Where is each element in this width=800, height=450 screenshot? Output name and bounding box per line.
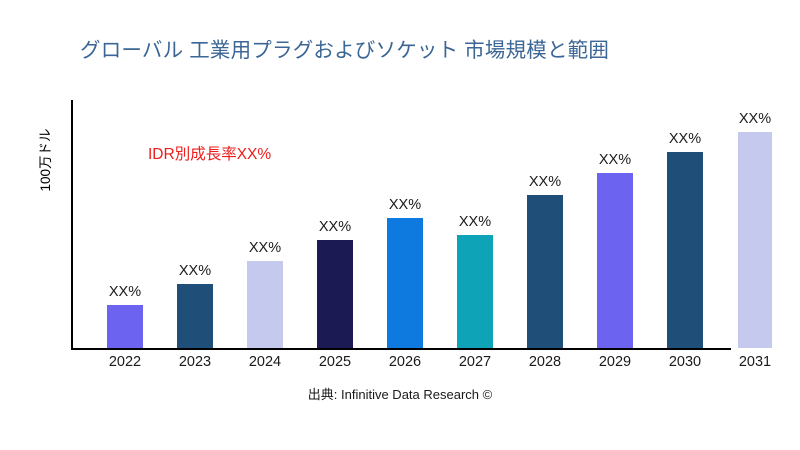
bar-value-label: XX% [739,111,771,127]
bar-value-label: XX% [109,284,141,300]
bar[interactable] [738,132,772,348]
x-axis-tick-label: 2022 [95,354,155,370]
x-axis-tick-label: 2026 [375,354,435,370]
bar-group: XX% [317,240,353,348]
bar-value-label: XX% [179,263,211,279]
bar[interactable] [667,152,703,348]
chart-container: グローバル 工業用プラグおよびソケット 市場規模と範囲 100万ドル IDR別成… [0,0,800,450]
bar-value-label: XX% [389,197,421,213]
source-note: 出典: Infinitive Data Research © [0,384,800,403]
bar-group: XX% [527,195,563,348]
x-axis-tick-label: 2024 [235,354,295,370]
bar[interactable] [457,235,493,348]
x-axis-tick-label: 2030 [655,354,715,370]
bar-group: XX% [667,152,703,348]
bar[interactable] [177,284,213,348]
bar[interactable] [247,261,283,348]
bar-group: XX% [457,235,493,348]
bar-value-label: XX% [529,174,561,190]
bar-group: XX% [597,173,633,348]
x-axis-tick-label: 2027 [445,354,505,370]
bar[interactable] [387,218,423,348]
x-axis-tick-label: 2029 [585,354,645,370]
x-axis-tick-label: 2028 [515,354,575,370]
plot-area: 100万ドル IDR別成長率XX% XX%2022XX%2023XX%2024X… [0,0,800,450]
bar-value-label: XX% [599,152,631,168]
x-axis-tick-label: 2025 [305,354,365,370]
bars-layer: XX%2022XX%2023XX%2024XX%2025XX%2026XX%20… [0,0,800,450]
bar-value-label: XX% [459,214,491,230]
bar-value-label: XX% [249,240,281,256]
bar-group: XX% [177,284,213,348]
bar[interactable] [317,240,353,348]
bar-group: XX% [247,261,283,348]
bar-value-label: XX% [669,131,701,147]
bar[interactable] [597,173,633,348]
x-axis-tick-label: 2031 [726,354,784,370]
bar-group: XX% [107,305,143,348]
bar[interactable] [107,305,143,348]
x-axis-tick-label: 2023 [165,354,225,370]
bar-value-label: XX% [319,219,351,235]
bar[interactable] [527,195,563,348]
bar-group: XX% [738,132,772,348]
bar-group: XX% [387,218,423,348]
